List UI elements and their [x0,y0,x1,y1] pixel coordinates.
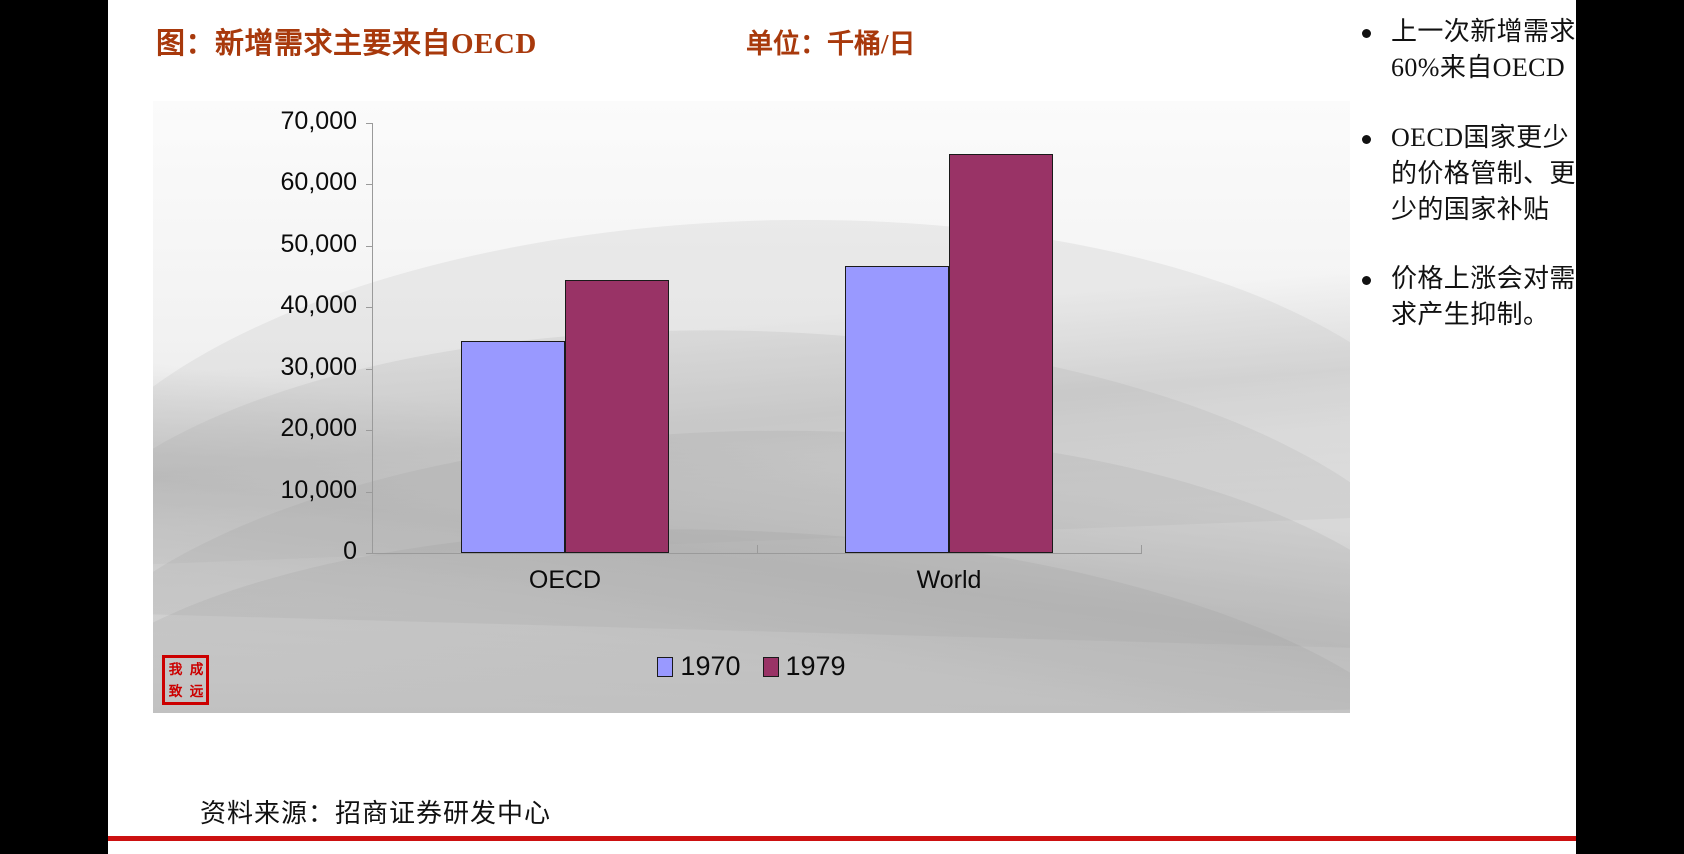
y-axis-tick [366,123,373,124]
bullet-text-2: OECD国家更少的价格管制、更少的国家补贴 [1391,120,1576,228]
slide-header: 图：新增需求主要来自OECD 单位：千桶/日 [108,8,1576,70]
y-axis-tick-label: 60,000 [205,168,357,197]
chart-container: 010,00020,00030,00040,00050,00060,00070,… [153,101,1350,713]
page-title: 图：新增需求主要来自OECD [156,20,537,62]
bullet-text-1: 上一次新增需求60%来自OECD [1391,14,1576,86]
seal-char-2: 成 [189,662,202,676]
x-axis-label-world: World [839,566,1059,595]
legend-label-1979: 1979 [786,653,846,680]
background-band-4 [153,501,1350,713]
bullet-list: 上一次新增需求60%来自OECDOECD国家更少的价格管制、更少的国家补贴价格上… [1362,14,1576,367]
red-seal-stamp: 我 成 致 远 [162,655,209,705]
legend-swatch-1979 [763,657,779,677]
bar-world-1979[interactable] [949,154,1053,553]
bar-oecd-1970[interactable] [461,341,565,553]
bullet-dot-icon [1362,135,1371,144]
seal-char-3: 致 [169,684,182,698]
bullet-dot-icon [1362,276,1371,285]
source-note: 资料来源：招商证券研发中心 [200,793,551,830]
y-axis-tick-label: 10,000 [205,476,357,505]
y-axis-tick [366,246,373,247]
y-axis-tick-label: 20,000 [205,414,357,443]
slide-canvas: 图：新增需求主要来自OECD 单位：千桶/日 010,00020,00030,0… [108,0,1576,854]
x-axis-tick [757,545,758,554]
bullet-item-1: 上一次新增需求60%来自OECD [1362,14,1576,86]
footer-divider [108,836,1576,841]
x-axis-label-oecd: OECD [455,566,675,595]
legend-label-1970: 1970 [680,653,740,680]
y-axis-tick [366,553,373,554]
bullet-text-3: 价格上涨会对需求产生抑制。 [1391,261,1576,333]
bullet-item-2: OECD国家更少的价格管制、更少的国家补贴 [1362,120,1576,228]
y-axis-tick [366,369,373,370]
x-axis-tick [1141,545,1142,554]
y-axis-tick [366,184,373,185]
y-axis-tick [366,492,373,493]
chart-unit-label: 单位：千桶/日 [746,22,916,61]
y-axis-tick-label: 30,000 [205,353,357,382]
legend-item-1970[interactable]: 1970 [657,653,740,680]
bar-oecd-1979[interactable] [565,280,669,553]
legend-item-1979[interactable]: 1979 [763,653,846,680]
seal-char-4: 远 [189,684,202,698]
y-axis-tick-label: 0 [205,537,357,566]
y-axis-tick-label: 40,000 [205,291,357,320]
y-axis-tick-label: 50,000 [205,230,357,259]
chart-legend: 19701979 [153,653,1350,680]
legend-swatch-1970 [657,657,673,677]
bullet-dot-icon [1362,29,1371,38]
y-axis-tick [366,430,373,431]
seal-char-1: 我 [169,662,182,676]
y-axis-line [372,123,373,554]
y-axis-tick-label: 70,000 [205,107,357,136]
bullet-item-3: 价格上涨会对需求产生抑制。 [1362,261,1576,333]
bar-world-1970[interactable] [845,266,949,553]
y-axis-tick [366,307,373,308]
